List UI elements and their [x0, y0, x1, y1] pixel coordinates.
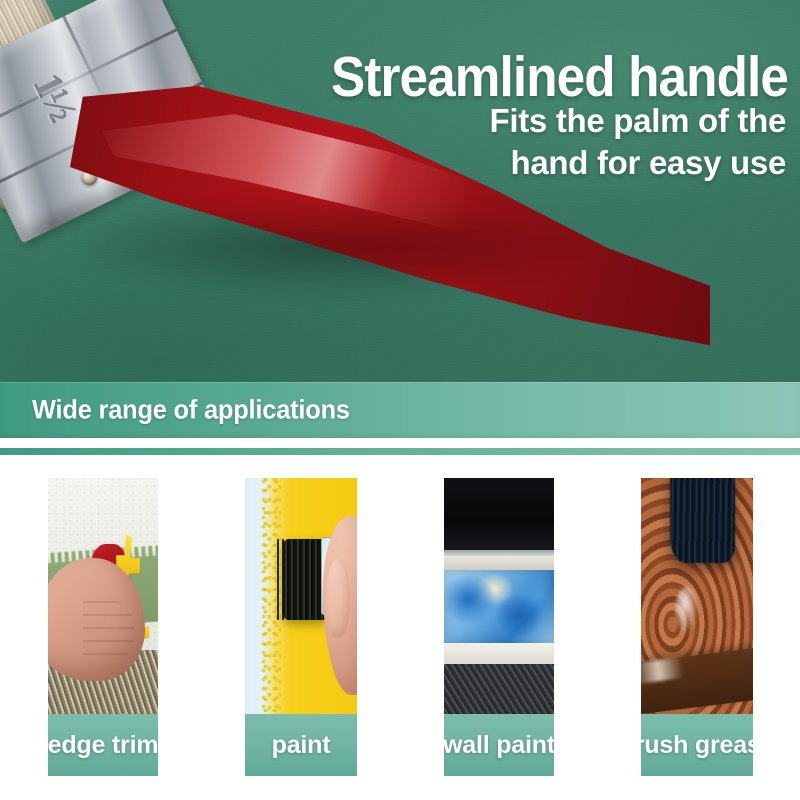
wall-paint-blue-mural: [444, 570, 554, 643]
application-panel-grid: edge trim paint wall paint: [8, 462, 792, 792]
hero-subheadline-line-1: Fits the palm of the: [386, 100, 786, 142]
product-feature-page: 1½ Streamlined handle Fits the palm of t…: [0, 0, 800, 800]
hero-subheadline: Fits the palm of the hand for easy use: [386, 100, 786, 184]
hero-headline: Streamlined handle: [248, 48, 788, 106]
wall-paint-dark-ceiling: [444, 478, 554, 556]
wall-paint-soffit: [444, 556, 554, 570]
panel-brush-grease-label: brush grease: [641, 714, 753, 776]
panel-wall-paint: wall paint: [444, 478, 554, 776]
wall-paint-carpet-floor: [444, 664, 554, 714]
hero-subheadline-line-2: hand for easy use: [386, 142, 786, 184]
edge-trim-finger-creases: [83, 601, 134, 662]
panel-paint: paint: [245, 478, 357, 776]
paint-thumb: [326, 558, 351, 638]
wall-paint-baseboard: [444, 643, 554, 664]
panel-brush-grease: brush grease: [641, 478, 753, 776]
banner-accent-rule: [0, 448, 800, 455]
brush-grease-oil-gloss: [675, 587, 700, 634]
applications-banner-title: Wide range of applications: [32, 395, 350, 426]
brush-handle-shadow: [80, 170, 700, 360]
banner-divider-gap: [0, 438, 800, 448]
panel-edge-trim-label: edge trim: [48, 714, 158, 776]
panel-edge-trim: edge trim: [48, 478, 158, 776]
hero-section: 1½ Streamlined handle Fits the palm of t…: [0, 0, 800, 382]
panel-edge-trim-photo: [48, 478, 158, 714]
panel-paint-photo: [245, 478, 357, 714]
applications-banner: Wide range of applications: [0, 382, 800, 438]
panel-wall-paint-label: wall paint: [444, 714, 554, 776]
panel-brush-grease-photo: [641, 478, 753, 714]
brush-grease-dark-bristles: [670, 478, 735, 563]
panel-wall-paint-photo: [444, 478, 554, 714]
panel-paint-label: paint: [245, 714, 357, 776]
paint-brush-bristles: [283, 539, 326, 619]
